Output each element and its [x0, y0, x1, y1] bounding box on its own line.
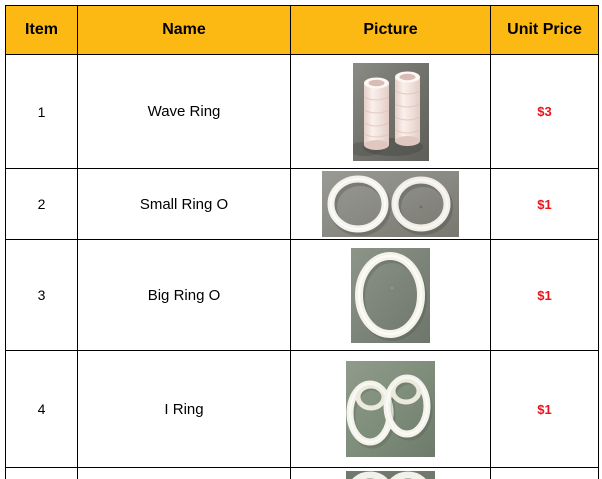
- table-row: 4 I Ring: [6, 351, 599, 468]
- product-photo-clipped: [346, 471, 435, 479]
- cell-product-picture: [291, 240, 491, 351]
- cell-unit-price: $1: [491, 240, 599, 351]
- cell-product-name: Wave Ring: [78, 55, 291, 169]
- column-header-name[interactable]: Name: [78, 6, 291, 55]
- table-row: 2 Small Ring O: [6, 169, 599, 240]
- cell-product-picture: [291, 169, 491, 240]
- page-root: Item Name Picture Unit Price 1 Wave Ring: [0, 0, 602, 479]
- cell-item-number: 1: [6, 55, 78, 169]
- column-header-picture[interactable]: Picture: [291, 6, 491, 55]
- table-row: 1 Wave Ring: [6, 55, 599, 169]
- product-photo-wave-ring: [353, 63, 429, 161]
- cell-product-name: [78, 468, 291, 479]
- cell-item-number: 2: [6, 169, 78, 240]
- table-header: Item Name Picture Unit Price: [6, 6, 599, 55]
- product-price-table: Item Name Picture Unit Price 1 Wave Ring: [5, 5, 599, 479]
- cell-product-picture: [291, 351, 491, 468]
- cell-unit-price: $1: [491, 351, 599, 468]
- cell-unit-price: $3: [491, 55, 599, 169]
- cell-product-name: I Ring: [78, 351, 291, 468]
- product-photo-small-ring-o: [322, 171, 459, 237]
- column-header-price[interactable]: Unit Price: [491, 6, 599, 55]
- product-photo-i-ring: [346, 361, 435, 457]
- cell-unit-price: [491, 468, 599, 479]
- cell-product-name: Big Ring O: [78, 240, 291, 351]
- cell-item-number: [6, 468, 78, 479]
- table-row: [6, 468, 599, 479]
- cell-unit-price: $1: [491, 169, 599, 240]
- cell-product-picture: [291, 55, 491, 169]
- column-header-item[interactable]: Item: [6, 6, 78, 55]
- cell-product-name: Small Ring O: [78, 169, 291, 240]
- cell-item-number: 4: [6, 351, 78, 468]
- table-row: 3 Big Ring O: [6, 240, 599, 351]
- cell-product-picture: [291, 468, 491, 479]
- cell-item-number: 3: [6, 240, 78, 351]
- table-header-row: Item Name Picture Unit Price: [6, 6, 599, 55]
- product-photo-big-ring-o: [351, 248, 430, 343]
- table-body: 1 Wave Ring: [6, 55, 599, 479]
